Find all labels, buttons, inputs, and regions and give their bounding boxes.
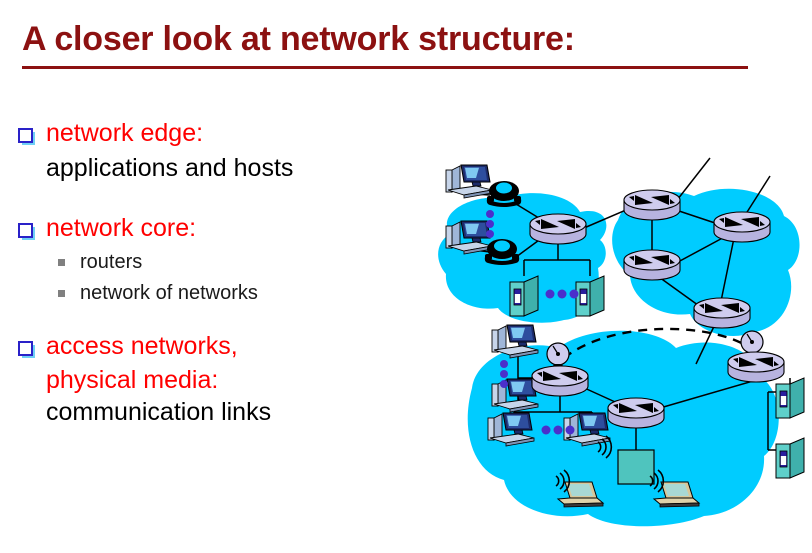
bullet-item-access-networks: access networks, physical media: communi… [14, 331, 414, 429]
bullet-row: access networks, [14, 331, 414, 365]
page-title: A closer look at network structure: [22, 20, 575, 59]
bullet-label: network core: [46, 214, 196, 242]
spacer [14, 309, 414, 331]
bullet-detail: applications and hosts [14, 152, 414, 185]
vertical-ellipsis [486, 210, 494, 238]
bullet-label: access networks, [46, 332, 238, 360]
small-square-bullet-icon [58, 259, 65, 266]
bullet-list: network edge: applications and hosts net… [14, 118, 414, 429]
router-icon [728, 352, 784, 382]
sub-bullet-label: network of networks [80, 282, 258, 304]
sub-bullet-item: network of networks [14, 278, 414, 309]
network-structure-diagram [412, 142, 812, 542]
server-icon [510, 276, 538, 316]
spacer [14, 185, 414, 213]
sub-bullet-label: routers [80, 251, 142, 273]
router-icon [624, 190, 680, 220]
router-icon [532, 366, 588, 396]
title-underline [22, 66, 748, 69]
telephone-icon [487, 181, 521, 207]
pc-icon [492, 325, 538, 358]
small-square-bullet-icon [58, 290, 65, 297]
horizontal-ellipsis [542, 426, 575, 435]
sub-bullet-item: routers [14, 247, 414, 278]
bullet-label-line2: physical media: [14, 365, 414, 396]
square-bullet-icon [18, 341, 33, 356]
server-icon [776, 378, 804, 418]
bullet-detail: communication links [14, 396, 414, 429]
bullet-item-network-core: network core: routers network of network… [14, 213, 414, 309]
router-icon [608, 398, 664, 428]
square-bullet-icon [18, 128, 33, 143]
bullet-item-network-edge: network edge: applications and hosts [14, 118, 414, 185]
wireless-access-point-icon [618, 450, 654, 484]
vertical-ellipsis [500, 360, 508, 388]
router-icon [694, 298, 750, 328]
slide-canvas: A closer look at network structure: netw… [0, 0, 812, 553]
pc-icon [446, 165, 492, 198]
horizontal-ellipsis [546, 290, 579, 299]
router-icon [714, 212, 770, 242]
router-icon [624, 250, 680, 280]
bullet-label: network edge: [46, 119, 203, 147]
square-bullet-icon [18, 223, 33, 238]
switch-icon [530, 214, 586, 244]
bullet-row: network core: [14, 213, 414, 247]
server-icon [576, 276, 604, 316]
bullet-row: network edge: [14, 118, 414, 152]
server-icon [776, 438, 804, 478]
